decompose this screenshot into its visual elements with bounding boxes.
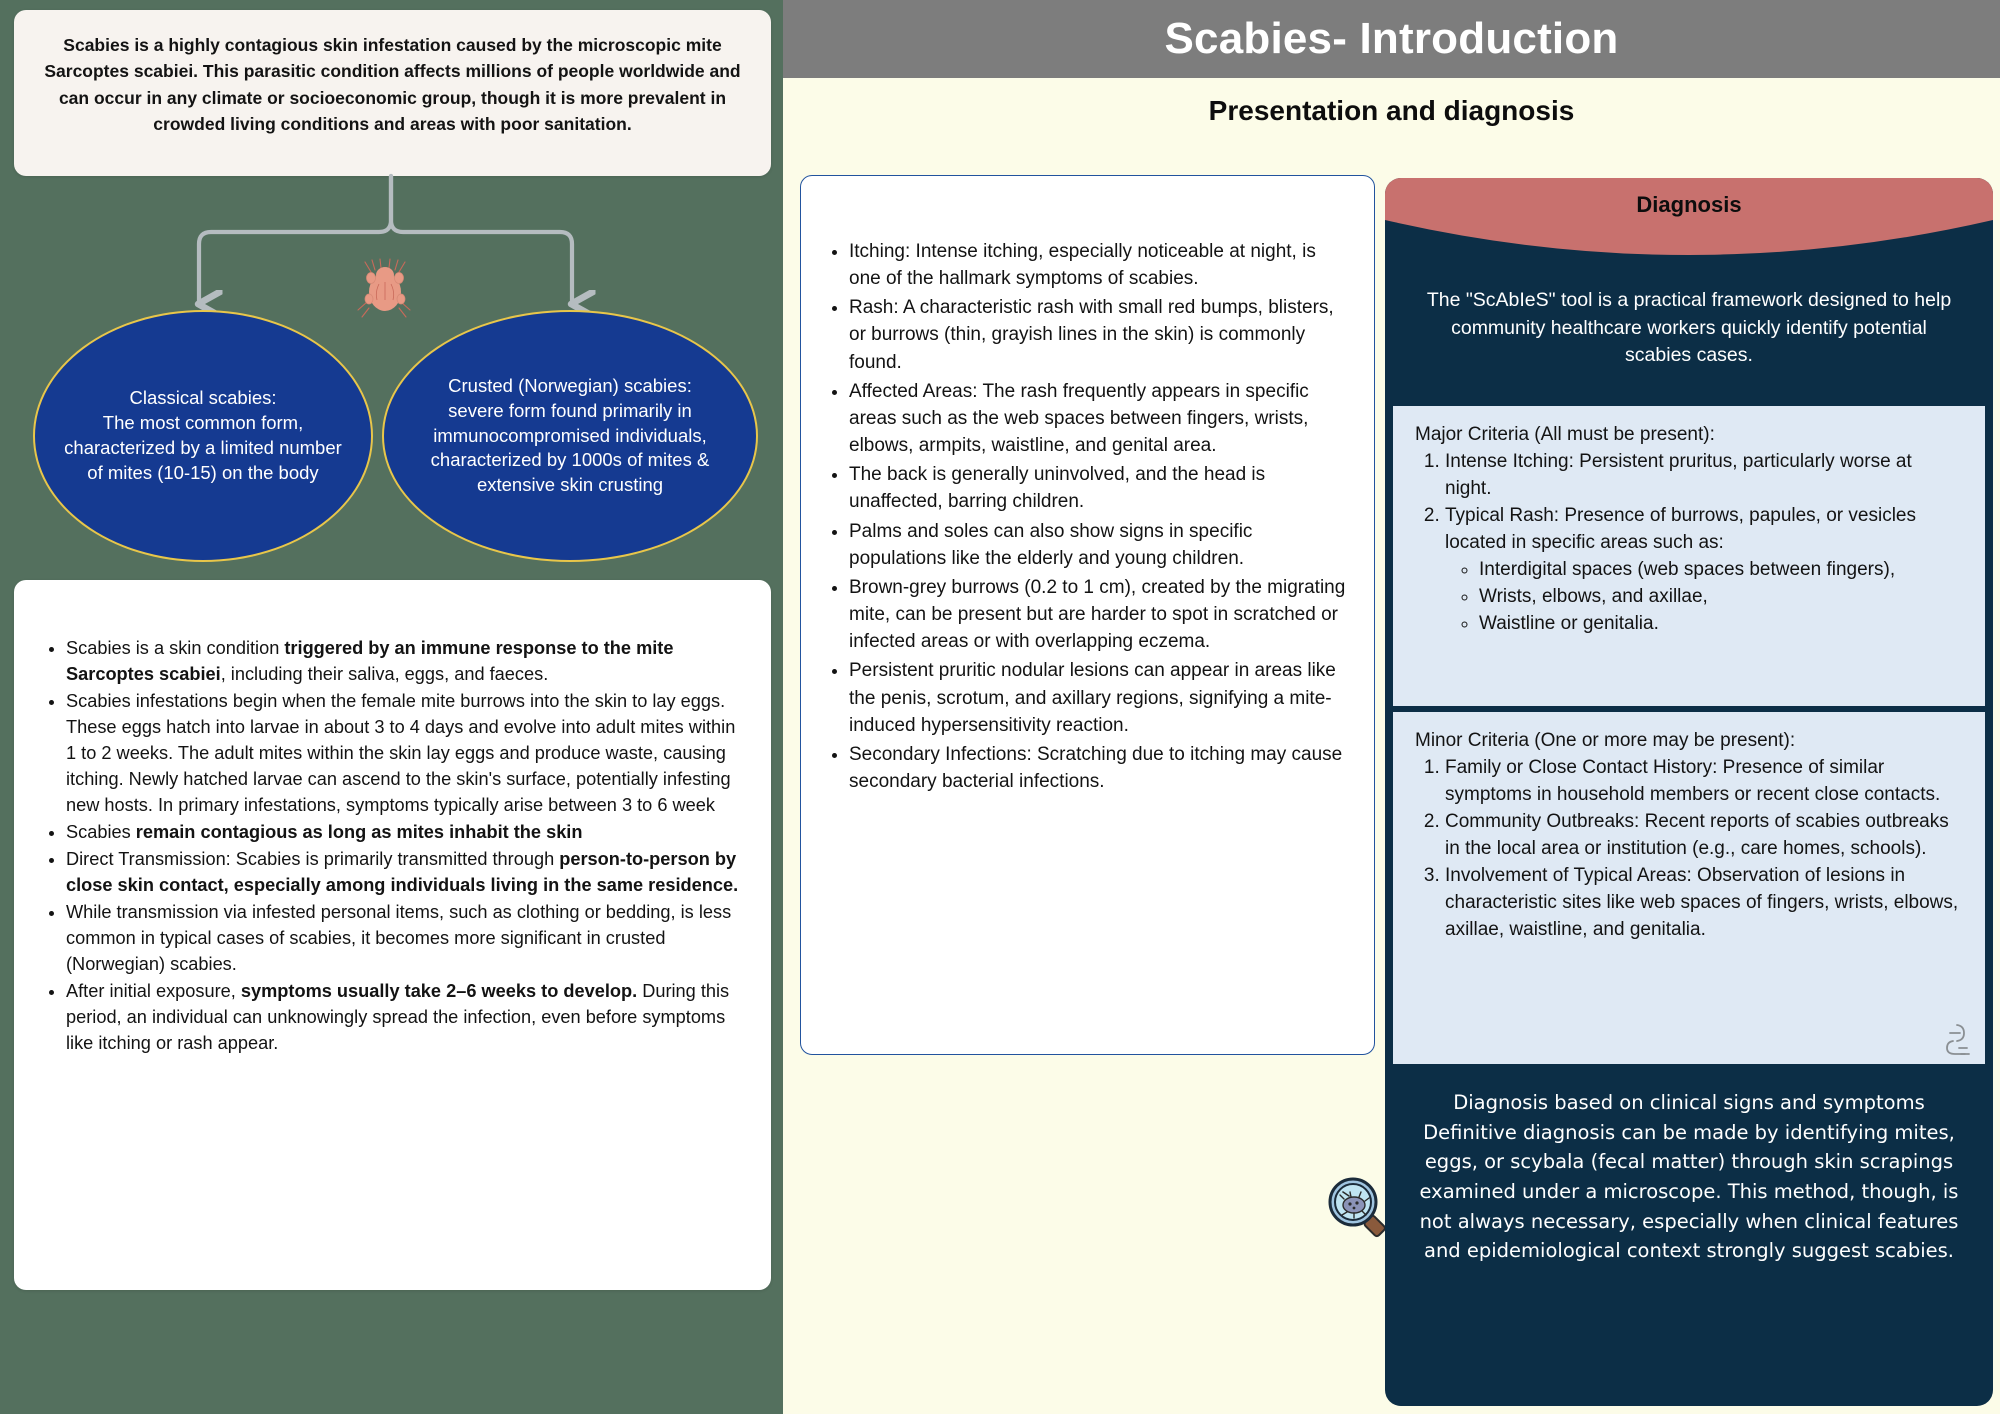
diagnosis-header: Diagnosis (1385, 178, 1993, 273)
list-item: Direct Transmission: Scabies is primaril… (66, 846, 741, 898)
ellipse-crusted-label: Crusted (Norwegian) scabies:severe form … (406, 374, 734, 499)
intro-card: Scabies is a highly contagious skin infe… (14, 10, 771, 176)
page-title: Scabies- Introduction (783, 2, 2000, 76)
minor-criteria-list: Family or Close Contact History: Presenc… (1415, 755, 1963, 944)
list-item: While transmission via infested personal… (66, 899, 741, 977)
major-criteria-block: Major Criteria (All must be present): In… (1393, 406, 1985, 706)
ellipse-classical-scabies: Classical scabies:The most common form, … (33, 310, 373, 562)
sub-list-item: Interdigital spaces (web spaces between … (1479, 557, 1963, 584)
list-item: Persistent pruritic nodular lesions can … (849, 657, 1348, 738)
list-item: Intense Itching: Persistent pruritus, pa… (1445, 449, 1963, 503)
list-item: Affected Areas: The rash frequently appe… (849, 378, 1348, 459)
microscope-icon (1937, 1022, 1971, 1058)
left-bullet-list: Scabies is a skin condition triggered by… (40, 635, 741, 1056)
list-item: Scabies infestations begin when the fema… (66, 688, 741, 818)
sub-list-item: Waistline or genitalia. (1479, 611, 1963, 638)
sub-list-item: Wrists, elbows, and axillae, (1479, 584, 1963, 611)
list-item: Family or Close Contact History: Presenc… (1445, 755, 1963, 809)
list-item: Scabies remain contagious as long as mit… (66, 819, 741, 845)
scabies-mite-icon (355, 258, 415, 320)
major-criteria-title: Major Criteria (All must be present): (1415, 422, 1963, 449)
list-item: Scabies is a skin condition triggered by… (66, 635, 741, 687)
list-item: Secondary Infections: Scratching due to … (849, 741, 1348, 795)
sub-list: Interdigital spaces (web spaces between … (1445, 557, 1963, 638)
left-detail-card: Scabies is a skin condition triggered by… (14, 580, 771, 1290)
list-item: Itching: Intense itching, especially not… (849, 238, 1348, 292)
intro-text: Scabies is a highly contagious skin infe… (44, 35, 740, 134)
list-item: Rash: A characteristic rash with small r… (849, 294, 1348, 375)
list-item: Brown-grey burrows (0.2 to 1 cm), create… (849, 574, 1348, 655)
diagnosis-footer-text: Diagnosis based on clinical signs and sy… (1385, 1070, 1993, 1266)
presentation-bullet-list: Itching: Intense itching, especially not… (823, 238, 1348, 795)
list-item: The back is generally uninvolved, and th… (849, 461, 1348, 515)
diagnosis-intro-text: The "ScAbIeS" tool is a practical framew… (1385, 273, 1993, 400)
section-title: Presentation and diagnosis (783, 95, 2000, 127)
ellipse-classical-label: Classical scabies:The most common form, … (57, 386, 349, 486)
list-item: After initial exposure, symptoms usually… (66, 978, 741, 1056)
ellipse-crusted-scabies: Crusted (Norwegian) scabies:severe form … (382, 310, 758, 562)
list-item: Community Outbreaks: Recent reports of s… (1445, 809, 1963, 863)
minor-criteria-block: Minor Criteria (One or more may be prese… (1393, 712, 1985, 1064)
diagnosis-panel: Diagnosis The "ScAbIeS" tool is a practi… (1385, 178, 1993, 1406)
list-item: Palms and soles can also show signs in s… (849, 518, 1348, 572)
diagnosis-title: Diagnosis (1385, 192, 1993, 218)
presentation-card: Itching: Intense itching, especially not… (800, 175, 1375, 1055)
major-criteria-list: Intense Itching: Persistent pruritus, pa… (1415, 449, 1963, 638)
magnifier-mite-icon (1327, 1176, 1389, 1238)
list-item: Typical Rash: Presence of burrows, papul… (1445, 503, 1963, 638)
minor-criteria-title: Minor Criteria (One or more may be prese… (1415, 728, 1963, 755)
list-item: Involvement of Typical Areas: Observatio… (1445, 863, 1963, 944)
